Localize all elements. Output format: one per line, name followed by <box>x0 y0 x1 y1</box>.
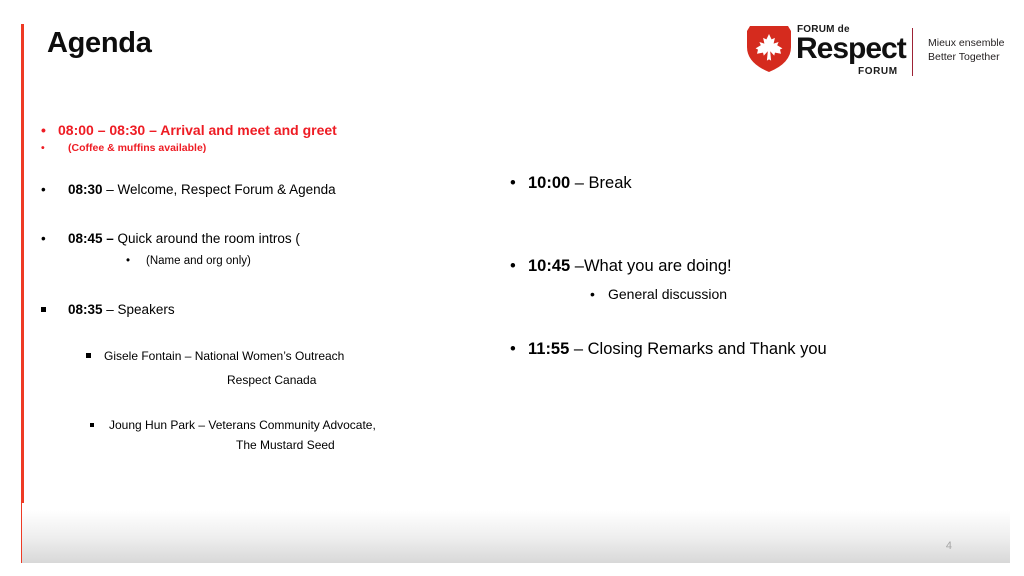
respect-forum-logo: FORUM de Respect FORUM Mieux ensemble Be… <box>746 22 1014 84</box>
bullet-dot-icon: • <box>41 231 68 247</box>
logo-tagline-fr: Mieux ensemble <box>928 36 1004 50</box>
agenda-item-coffee-text: (Coffee & muffins available) <box>68 142 206 154</box>
bullet-square-icon <box>90 423 94 427</box>
agenda-item-1155-time: 11:55 <box>528 340 569 358</box>
bullet-dot-icon: • <box>510 340 528 360</box>
agenda-item-1045-text: –What you are doing! <box>570 257 731 275</box>
agenda-item-0800: •08:00 – 08:30 – Arrival and meet and gr… <box>41 122 337 139</box>
bullet-dot-icon: • <box>510 257 528 277</box>
bullet-dot-icon: • <box>126 255 146 269</box>
agenda-item-1155: •11:55 – Closing Remarks and Thank you <box>510 340 827 360</box>
speaker-entry-gisele-fontain-org: Respect Canada <box>227 373 316 387</box>
logo-tagline: Mieux ensemble Better Together <box>928 36 1004 64</box>
agenda-item-0835-text: – Speakers <box>103 302 175 317</box>
speaker-entry-gisele-fontain-text: Gisele Fontain – National Women’s Outrea… <box>104 349 344 363</box>
agenda-subitem-name-org-text: (Name and org only) <box>146 255 251 267</box>
logo-respect-text: Respect <box>796 33 906 65</box>
speaker-entry-joung-hun-park-org: The Mustard Seed <box>236 438 335 452</box>
speaker-entry-joung-hun-park-text: Joung Hun Park – Veterans Community Advo… <box>109 418 376 432</box>
agenda-item-0845-time: 08:45 – <box>68 231 114 246</box>
footer-gradient-band <box>22 503 1010 563</box>
agenda-item-1000-text: – Break <box>570 174 631 192</box>
speaker-entry-joung-hun-park: Joung Hun Park – Veterans Community Advo… <box>90 418 376 432</box>
bullet-dot-icon: • <box>590 286 608 303</box>
agenda-item-0845-text: Quick around the room intros ( <box>114 231 300 246</box>
agenda-item-1045: •10:45 –What you are doing! <box>510 257 732 277</box>
page-title: Agenda <box>47 26 152 60</box>
bullet-dot-icon: • <box>41 122 58 139</box>
speaker-entry-gisele-fontain: Gisele Fontain – National Women’s Outrea… <box>86 349 344 363</box>
agenda-item-0835-time: 08:35 <box>68 302 103 317</box>
slide-canvas: Agenda FORUM de Respect FORUM Mieux ense… <box>0 0 1024 576</box>
bullet-square-icon <box>86 353 91 358</box>
agenda-item-0830-time: 08:30 <box>68 182 103 197</box>
agenda-item-0800-text: Arrival and meet and greet <box>160 122 337 138</box>
agenda-item-1155-text: – Closing Remarks and Thank you <box>569 340 826 358</box>
agenda-item-1045-time: 10:45 <box>528 257 570 275</box>
left-accent-bar <box>21 24 24 563</box>
logo-wordmark: FORUM de Respect FORUM <box>796 22 908 80</box>
agenda-item-0800-time: 08:00 – 08:30 – <box>58 122 160 138</box>
logo-tagline-en: Better Together <box>928 50 1004 64</box>
agenda-item-1000-time: 10:00 <box>528 174 570 192</box>
agenda-item-coffee: •(Coffee & muffins available) <box>41 142 206 155</box>
bullet-dot-icon: • <box>41 182 68 198</box>
agenda-subitem-general-discussion: •General discussion <box>590 286 727 303</box>
bullet-dot-icon: • <box>41 142 68 155</box>
agenda-item-0835: 08:35 – Speakers <box>41 302 175 318</box>
agenda-item-1000: •10:00 – Break <box>510 174 632 194</box>
slide-number: 4 <box>936 540 962 552</box>
agenda-item-0830: •08:30 – Welcome, Respect Forum & Agenda <box>41 182 336 198</box>
agenda-subitem-name-org: •(Name and org only) <box>126 255 251 269</box>
logo-forum-sub-text: FORUM <box>858 66 898 77</box>
canada-maple-leaf-shield-icon <box>746 25 792 73</box>
bullet-square-icon <box>41 307 46 312</box>
agenda-item-0830-text: – Welcome, Respect Forum & Agenda <box>103 182 336 197</box>
bullet-dot-icon: • <box>510 174 528 194</box>
logo-divider <box>912 28 913 76</box>
agenda-subitem-general-discussion-text: General discussion <box>608 286 727 302</box>
agenda-item-0845: •08:45 – Quick around the room intros ( <box>41 231 300 247</box>
